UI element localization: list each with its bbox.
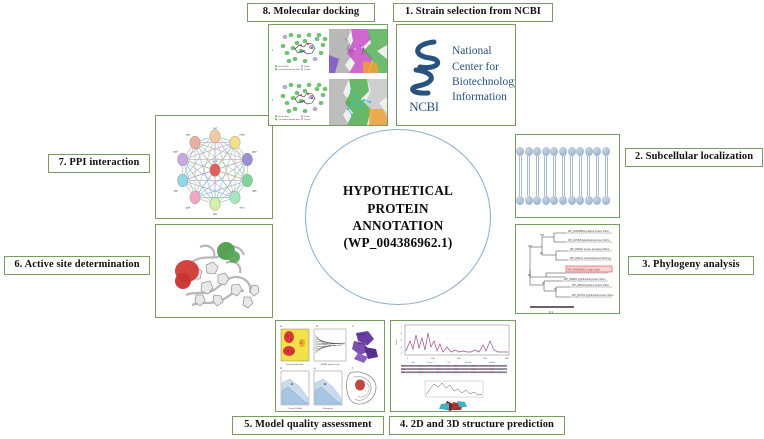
sequence-residue xyxy=(496,365,497,367)
sequence-residue xyxy=(409,371,410,373)
sequence-residue xyxy=(458,365,459,367)
svg-text:1: 1 xyxy=(401,326,403,328)
sequence-residue xyxy=(476,368,477,370)
sequence-residue xyxy=(464,365,465,367)
sequence-residue xyxy=(493,368,494,370)
sequence-residue xyxy=(465,368,466,370)
sequence-residue xyxy=(417,368,418,370)
sequence-residue xyxy=(437,371,438,373)
sequence-residue xyxy=(493,365,494,367)
docking-figure: A B C D Van der WaalsPi-alkylConventiona… xyxy=(269,25,388,126)
sequence-residue xyxy=(420,365,421,367)
sequence-residue xyxy=(476,371,477,373)
sequence-residue xyxy=(474,371,475,373)
ppi-node[interactable] xyxy=(230,191,240,204)
sequence-residue xyxy=(444,365,445,367)
sequence-residue xyxy=(438,365,439,367)
ppi-node-label: mdh xyxy=(239,132,245,136)
sequence-residue xyxy=(477,368,478,370)
legend-label: Conventional hydrogen bond xyxy=(278,118,300,121)
sequence-residue xyxy=(430,365,431,367)
sequence-residue xyxy=(432,371,433,373)
sequence-residue xyxy=(412,365,413,367)
sequence-residue xyxy=(459,365,460,367)
step-label-6[interactable]: 6. Active site determination xyxy=(4,256,150,275)
residue-node xyxy=(283,35,287,39)
ligand-atom xyxy=(307,43,309,45)
sequence-residue xyxy=(423,368,424,370)
sequence-residue xyxy=(459,371,460,373)
sequence-residue xyxy=(482,371,483,373)
sequence-residue xyxy=(429,365,430,367)
svg-text:binding: binding xyxy=(489,362,495,364)
sequence-residue xyxy=(421,365,422,367)
sequence-residue xyxy=(414,365,415,367)
sequence-residue xyxy=(476,365,477,367)
sequence-residue xyxy=(484,365,485,367)
sequence-residue xyxy=(471,371,472,373)
sequence-residue xyxy=(431,371,432,373)
svg-text:d: d xyxy=(280,366,282,370)
sequence-residue xyxy=(465,371,466,373)
sequence-residue xyxy=(417,371,418,373)
docking-surface-d xyxy=(329,79,387,125)
sequence-residue xyxy=(411,365,412,367)
active-site-panel[interactable] xyxy=(155,224,273,318)
svg-text:300: 300 xyxy=(483,358,487,360)
sequence-residue xyxy=(407,365,408,367)
step-label-5[interactable]: 5. Model quality assessment xyxy=(232,416,384,435)
svg-text:400: 400 xyxy=(505,358,509,360)
sequence-residue xyxy=(439,368,440,370)
sequence-residue xyxy=(406,371,407,373)
sequence-residue xyxy=(472,371,473,373)
lipid-molecule xyxy=(542,147,550,205)
sequence-residue xyxy=(504,365,505,367)
legend-swatch xyxy=(301,65,303,67)
sequence-residue xyxy=(446,371,447,373)
sequence-residue xyxy=(409,368,410,370)
sequence-residue xyxy=(462,368,463,370)
ppi-node[interactable] xyxy=(177,174,187,187)
sequence-residue xyxy=(453,365,454,367)
svg-text:WP_004386962.1 target strain: WP_004386962.1 target strain xyxy=(568,268,601,271)
ppi-node-label: pgi xyxy=(174,189,178,193)
sequence-residue xyxy=(473,365,474,367)
step-label-5-text: 5. Model quality assessment xyxy=(244,420,372,431)
residue-node xyxy=(285,51,289,55)
ppi-node-label: rpiA xyxy=(173,149,178,153)
ncbi-wordmark: National Center for Biotechnology Inform… xyxy=(447,44,516,105)
svg-text:100: 100 xyxy=(431,358,435,360)
step-label-1[interactable]: 1. Strain selection from NCBI xyxy=(393,3,553,22)
sequence-residue xyxy=(411,368,412,370)
ppi-node[interactable] xyxy=(230,136,240,149)
sequence-residue xyxy=(411,371,412,373)
sequence-residue xyxy=(466,365,467,367)
sequence-residue xyxy=(486,365,487,367)
sequence-residue xyxy=(464,371,465,373)
sequence-residue xyxy=(453,368,454,370)
step-label-7-text: 7. PPI interaction xyxy=(59,158,140,169)
sequence-residue xyxy=(404,365,405,367)
svg-text:97: 97 xyxy=(542,282,545,285)
legend-swatch xyxy=(301,115,303,117)
sequence-residue xyxy=(416,368,417,370)
sequence-residue xyxy=(401,368,402,370)
sequence-residue xyxy=(495,371,496,373)
sequence-residue xyxy=(451,371,452,373)
sequence-residue xyxy=(429,371,430,373)
svg-text:b: b xyxy=(316,324,318,328)
sequence-residue xyxy=(421,368,422,370)
ppi-node[interactable] xyxy=(210,164,220,177)
sequence-residue xyxy=(481,371,482,373)
sequence-residue xyxy=(473,371,474,373)
residue-node xyxy=(321,43,325,47)
sequence-residue xyxy=(409,365,410,367)
sequence-residue xyxy=(421,371,422,373)
sequence-residue xyxy=(407,368,408,370)
sequence-residue xyxy=(419,368,420,370)
sequence-residue xyxy=(433,371,434,373)
sequence-residue xyxy=(403,371,404,373)
sequence-residue xyxy=(422,368,423,370)
sequence-residue xyxy=(435,365,436,367)
sequence-residue xyxy=(472,365,473,367)
sequence-residue xyxy=(439,365,440,367)
sequence-residue xyxy=(428,371,429,373)
sequence-residue xyxy=(457,368,458,370)
centre-line-1: HYPOTHETICAL xyxy=(343,182,453,199)
sequence-residue xyxy=(482,365,483,367)
docking-surface-b xyxy=(329,29,387,73)
sequence-residue xyxy=(401,365,402,367)
residue-node xyxy=(293,57,297,61)
sequence-residue xyxy=(405,365,406,367)
sequence-residue xyxy=(458,371,459,373)
sequence-residue xyxy=(501,365,502,367)
step-label-4[interactable]: 4. 2D and 3D structure prediction xyxy=(389,416,565,435)
sequence-residue xyxy=(418,365,419,367)
sequence-residue xyxy=(469,365,470,367)
sequence-residue xyxy=(490,371,491,373)
sequence-residue xyxy=(455,368,456,370)
sequence-residue xyxy=(492,365,493,367)
svg-text:c: c xyxy=(352,324,354,328)
sequence-residue xyxy=(478,365,479,367)
sequence-residue xyxy=(492,371,493,373)
sequence-residue xyxy=(483,365,484,367)
sequence-residue xyxy=(441,368,442,370)
ppi-node[interactable] xyxy=(210,198,220,211)
phylogeny-panel[interactable]: WP_004386962 putative protein Vibrio WP_… xyxy=(515,224,620,314)
sequence-residue xyxy=(443,371,444,373)
sequence-residue xyxy=(485,371,486,373)
legend-swatch xyxy=(275,118,277,120)
legend-label: Conventional hydrogen bond xyxy=(278,68,300,71)
svg-text:WP_003101 uncharacterized Vib: WP_003101 uncharacterized Vibrio sp. xyxy=(570,257,612,260)
sequence-residue xyxy=(447,371,448,373)
ppi-node[interactable] xyxy=(242,153,252,166)
sequence-residue xyxy=(435,368,436,370)
model-quality-panel[interactable]: a b c d e f Ramachandran plot ERRAT qual… xyxy=(275,320,385,412)
sequence-residue xyxy=(506,365,507,367)
sequence-residue xyxy=(499,371,500,373)
sequence-residue xyxy=(441,371,442,373)
ligand-atom xyxy=(311,47,313,49)
lipid-molecule xyxy=(559,147,567,205)
sequence-residue xyxy=(491,365,492,367)
sequence-residue xyxy=(475,365,476,367)
ppi-node-label: tal xyxy=(214,126,217,130)
residue-node xyxy=(297,34,301,38)
predicted-3d-structure xyxy=(439,401,467,411)
sequence-residue xyxy=(442,371,443,373)
sequence-residue xyxy=(461,368,462,370)
sequence-residue xyxy=(469,368,470,370)
ppi-node[interactable] xyxy=(190,136,200,149)
sequence-residue xyxy=(491,368,492,370)
active-site-region-a xyxy=(175,260,199,289)
sequence-residue xyxy=(403,368,404,370)
svg-text:.4: .4 xyxy=(400,347,403,349)
sequence-residue xyxy=(440,371,441,373)
residue-node xyxy=(297,84,301,88)
refined-model xyxy=(347,372,376,404)
sequence-residue xyxy=(491,371,492,373)
sequence-residue xyxy=(505,371,506,373)
sequence-residue xyxy=(486,371,487,373)
sequence-residue xyxy=(434,368,435,370)
sequence-residue xyxy=(505,365,506,367)
sequence-residue xyxy=(458,368,459,370)
sequence-residue xyxy=(455,365,456,367)
lipid-molecule xyxy=(593,147,601,205)
lipid-bilayer-icon xyxy=(516,135,619,217)
step-label-7[interactable]: 7. PPI interaction xyxy=(48,154,150,173)
sequence-residue xyxy=(503,371,504,373)
sequence-residue xyxy=(467,365,468,367)
lipid-molecule xyxy=(533,147,541,205)
sequence-residue xyxy=(403,365,404,367)
lipid-molecule xyxy=(550,147,558,205)
sequence-residue xyxy=(502,371,503,373)
sequence-residue xyxy=(488,365,489,367)
svg-text:coil: coil xyxy=(447,362,450,364)
lipid-molecule xyxy=(576,147,584,205)
step-label-6-text: 6. Active site determination xyxy=(14,260,139,271)
sequence-residue xyxy=(468,371,469,373)
sequence-residue xyxy=(454,365,455,367)
residue-node xyxy=(291,46,295,50)
sequence-residue xyxy=(446,368,447,370)
sequence-residue xyxy=(425,368,426,370)
residue-node xyxy=(281,94,285,98)
residue-node xyxy=(315,37,319,41)
sequence-residue xyxy=(488,371,489,373)
ppi-node-label: pgk xyxy=(252,189,257,193)
sequence-residue xyxy=(446,365,447,367)
sequence-residue xyxy=(422,365,423,367)
sequence-residue xyxy=(494,365,495,367)
ppi-node-label: fba xyxy=(213,212,217,216)
step-label-8[interactable]: 8. Molecular docking xyxy=(247,3,375,22)
residue-node xyxy=(313,107,317,111)
ppi-node[interactable] xyxy=(177,153,187,166)
ppi-node[interactable] xyxy=(210,130,220,143)
step-label-1-text: 1. Strain selection from NCBI xyxy=(405,7,541,18)
ppi-node-label: gap xyxy=(252,149,257,153)
svg-text:e: e xyxy=(314,366,316,370)
sequence-residue xyxy=(456,371,457,373)
sequence-residue xyxy=(412,371,413,373)
step-label-8-text: 8. Molecular docking xyxy=(263,7,360,18)
sequence-residue xyxy=(496,368,497,370)
step-label-3[interactable]: 3. Phylogeny analysis xyxy=(628,256,754,275)
legend-swatch xyxy=(275,115,277,117)
sequence-residue xyxy=(496,371,497,373)
residue-node xyxy=(283,85,287,89)
step-label-2[interactable]: 2. Subcellular localization xyxy=(625,148,763,167)
svg-text:disorder: disorder xyxy=(465,361,472,364)
sequence-residue xyxy=(431,365,432,367)
sequence-residue xyxy=(450,371,451,373)
sequence-residue xyxy=(452,368,453,370)
sequence-residue xyxy=(454,371,455,373)
sequence-residue xyxy=(426,368,427,370)
sequence-residue xyxy=(501,368,502,370)
ppi-node[interactable] xyxy=(190,191,200,204)
residue-node xyxy=(317,33,321,37)
ligand-atom xyxy=(307,93,309,95)
sequence-residue xyxy=(484,368,485,370)
sequence-residue xyxy=(454,368,455,370)
sequence-residue xyxy=(414,368,415,370)
structure-prediction-panel[interactable]: 1 .8 .6 .4 .2 0100 200300400 Score helix… xyxy=(390,320,516,412)
sequence-residue xyxy=(502,365,503,367)
residue-node xyxy=(295,91,299,95)
residue-node xyxy=(289,33,293,37)
sequence-residue xyxy=(482,368,483,370)
sequence-residue xyxy=(408,371,409,373)
sequence-residue xyxy=(448,365,449,367)
residue-node xyxy=(287,59,291,63)
sequence-residue xyxy=(472,368,473,370)
svg-text:Predicted three-dimensional st: Predicted three-dimensional structure xyxy=(438,411,469,412)
sequence-residue xyxy=(419,365,420,367)
sequence-residue xyxy=(447,365,448,367)
ppi-network-panel[interactable]: talmdhgappgkenofbatpiApgirpiArpegnd xyxy=(155,115,273,219)
sequence-residue xyxy=(413,371,414,373)
sequence-residue xyxy=(443,365,444,367)
sequence-residue xyxy=(494,368,495,370)
sequence-residue xyxy=(456,365,457,367)
sequence-residue xyxy=(466,371,467,373)
membrane-panel[interactable] xyxy=(515,134,620,218)
ligand-atom xyxy=(311,97,313,99)
svg-text:95: 95 xyxy=(554,288,557,291)
svg-text:Z-score (ProSA): Z-score (ProSA) xyxy=(288,407,302,410)
residue-node xyxy=(307,83,311,87)
svg-text:strand: strand xyxy=(427,361,432,364)
lipid-molecule xyxy=(568,147,576,205)
svg-text:ERRAT quality factor: ERRAT quality factor xyxy=(321,363,340,366)
svg-text:WP_007308 hypothetical protein: WP_007308 hypothetical protein Vibrio xyxy=(568,239,610,242)
residue-node xyxy=(317,83,321,87)
sequence-residue xyxy=(423,371,424,373)
sequence-residue xyxy=(448,368,449,370)
sequence-residue xyxy=(479,368,480,370)
legend-swatch xyxy=(275,65,277,67)
svg-text:f: f xyxy=(352,366,353,370)
sequence-residue xyxy=(471,368,472,370)
sequence-residue xyxy=(449,365,450,367)
residue-node xyxy=(303,59,307,63)
sequence-residue xyxy=(479,365,480,367)
sequence-residue xyxy=(451,365,452,367)
sequence-residue xyxy=(404,371,405,373)
sequence-residue xyxy=(416,371,417,373)
sequence-residue xyxy=(418,371,419,373)
sequence-residue xyxy=(501,371,502,373)
sequence-residue xyxy=(417,365,418,367)
svg-text:WP_004386962 putative protein: WP_004386962 putative protein Vibrio xyxy=(568,230,610,233)
svg-text:Score: Score xyxy=(395,339,398,345)
sequence-residue xyxy=(418,368,419,370)
ribbon-structure xyxy=(352,331,378,363)
sequence-residue xyxy=(488,368,489,370)
svg-text:Ramachandran plot: Ramachandran plot xyxy=(286,363,304,366)
svg-text:WP_008320 putative protein Vi: WP_008320 putative protein Vibrio xyxy=(572,284,610,287)
sequence-residue xyxy=(420,368,421,370)
model-quality-figure: a b c d e f Ramachandran plot ERRAT qual… xyxy=(276,321,385,412)
sequence-residue xyxy=(434,371,435,373)
residue-node xyxy=(289,83,293,87)
sequence-residue xyxy=(481,365,482,367)
sequence-residue xyxy=(437,368,438,370)
ppi-node-label: tpiA xyxy=(186,206,191,210)
sequence-residue xyxy=(433,368,434,370)
sequence-residue xyxy=(459,368,460,370)
ncbi-logo-panel[interactable]: NCBI National Center for Biotechnology I… xyxy=(396,24,516,126)
residue-node xyxy=(287,109,291,113)
sequence-residue xyxy=(499,368,500,370)
sequence-residue xyxy=(406,365,407,367)
sequence-residue xyxy=(470,368,471,370)
sequence-residue xyxy=(503,368,504,370)
sequence-residue xyxy=(402,371,403,373)
sequence-residue xyxy=(468,365,469,367)
molecular-docking-panel[interactable]: A B C D Van der WaalsPi-alkylConventiona… xyxy=(268,24,388,126)
residue-node xyxy=(321,93,325,97)
svg-text:helix: helix xyxy=(411,362,415,364)
ncbi-acronym: NCBI xyxy=(409,99,438,115)
step-label-4-text: 4. 2D and 3D structure prediction xyxy=(400,420,554,431)
sequence-residue xyxy=(436,368,437,370)
sequence-residue xyxy=(497,371,498,373)
sequence-residue xyxy=(419,371,420,373)
sequence-residue xyxy=(462,365,463,367)
legend-label: Pi-alkyl xyxy=(304,116,310,118)
sequence-residue xyxy=(461,365,462,367)
ppi-node[interactable] xyxy=(242,174,252,187)
sequence-residue xyxy=(432,365,433,367)
sequence-residue xyxy=(420,371,421,373)
sequence-residue xyxy=(477,365,478,367)
sequence-residue xyxy=(474,368,475,370)
sequence-residue xyxy=(425,371,426,373)
